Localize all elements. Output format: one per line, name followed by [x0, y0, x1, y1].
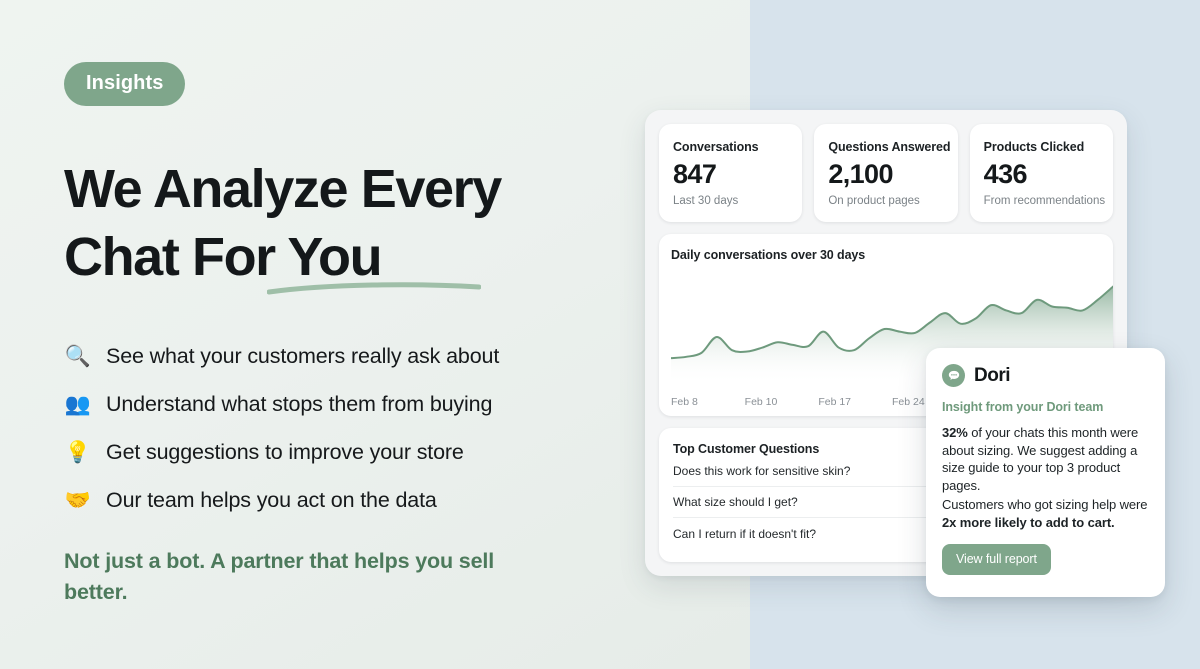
stat-card-products-clicked: Products Clicked 436 From recommendation… [970, 124, 1113, 222]
question-text: What size should I get? [673, 495, 798, 509]
list-item: 🔍 See what your customers really ask abo… [64, 332, 624, 380]
feature-label: See what your customers really ask about [106, 344, 499, 369]
chart-title: Daily conversations over 30 days [671, 248, 1101, 262]
magnifying-glass-icon: 🔍 [64, 342, 92, 370]
hero-content: Insights We Analyze Every Chat For You 🔍… [64, 0, 664, 669]
dori-paragraph-2: Customers who got sizing help were 2x mo… [942, 496, 1149, 531]
stat-label: Conversations [673, 140, 788, 154]
dori-insight-card: Dori Insight from your Dori team 32% of … [926, 348, 1165, 597]
dori-paragraph-1-rest: of your chats this month were about sizi… [942, 425, 1138, 493]
chart-tick-label: Feb 10 [745, 396, 819, 408]
stat-value: 847 [673, 160, 788, 188]
stat-label: Products Clicked [984, 140, 1099, 154]
tagline: Not just a bot. A partner that helps you… [64, 546, 534, 608]
people-icon: 👥 [64, 390, 92, 418]
page-title: We Analyze Every Chat For You [64, 155, 624, 291]
stat-subtext: Last 30 days [673, 195, 788, 207]
dori-subtitle: Insight from your Dori team [942, 400, 1149, 414]
stat-value: 436 [984, 160, 1099, 188]
stat-card-conversations: Conversations 847 Last 30 days [659, 124, 802, 222]
stat-subtext: On product pages [828, 195, 943, 207]
dori-stat-percent: 32% [942, 425, 968, 440]
list-item: 💡 Get suggestions to improve your store [64, 428, 624, 476]
insights-badge: Insights [64, 62, 185, 106]
stat-label: Questions Answered [828, 140, 943, 154]
dori-stat-multiplier: 2x more likely to add to cart. [942, 515, 1115, 530]
feature-label: Get suggestions to improve your store [106, 440, 464, 465]
headline-line-1: We Analyze Every [64, 155, 624, 223]
underline-swoosh-icon [267, 281, 481, 295]
dori-name: Dori [974, 365, 1010, 387]
lightbulb-icon: 💡 [64, 438, 92, 466]
dori-body: 32% of your chats this month were about … [942, 424, 1149, 531]
stat-card-row: Conversations 847 Last 30 days Questions… [659, 124, 1113, 222]
chat-bubble-icon [942, 364, 965, 387]
dori-paragraph-2-lead: Customers who got sizing help were [942, 497, 1147, 512]
question-text: Does this work for sensitive skin? [673, 464, 850, 478]
chart-tick-label: Feb 8 [671, 396, 745, 408]
feature-label: Our team helps you act on the data [106, 488, 437, 513]
dori-paragraph-1: 32% of your chats this month were about … [942, 424, 1149, 494]
dori-card-header: Dori [942, 364, 1149, 387]
view-full-report-button[interactable]: View full report [942, 544, 1051, 575]
stat-subtext: From recommendations [984, 195, 1099, 207]
promo-graphic: Insights We Analyze Every Chat For You 🔍… [0, 0, 1200, 669]
feature-list: 🔍 See what your customers really ask abo… [64, 332, 624, 524]
list-item: 👥 Understand what stops them from buying [64, 380, 624, 428]
stat-card-questions-answered: Questions Answered 2,100 On product page… [814, 124, 957, 222]
question-text: Can I return if it doesn't fit? [673, 527, 816, 541]
list-item: 🤝 Our team helps you act on the data [64, 476, 624, 524]
handshake-icon: 🤝 [64, 486, 92, 514]
chart-tick-label: Feb 17 [818, 396, 892, 408]
feature-label: Understand what stops them from buying [106, 392, 492, 417]
stat-value: 2,100 [828, 160, 943, 188]
